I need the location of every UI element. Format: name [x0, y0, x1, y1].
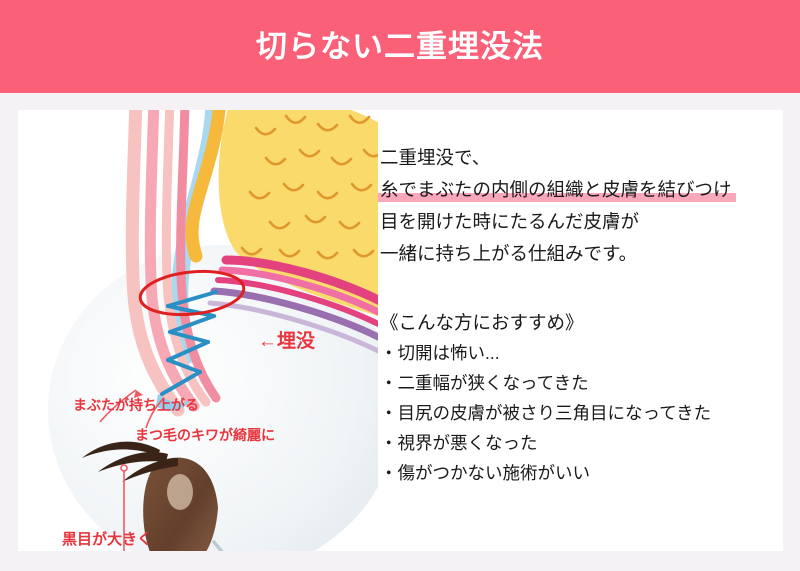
annotation-iris-larger: 黒目が大きく: [62, 532, 152, 547]
recommendation-item: ・二重幅が狭くなってきた: [380, 368, 780, 398]
page-header: 切らない二重埋没法: [0, 0, 800, 93]
annotation-maibotsu: ←埋没: [258, 332, 315, 351]
lede-line-1: 二重埋没で、: [380, 142, 490, 174]
recommendation-item: ・視界が悪くなった: [380, 428, 780, 458]
recommendation-item: ・目尻の皮膚が被さり三角目になってきた: [380, 398, 780, 428]
lede-line-2-highlighted: 糸でまぶたの内側の組織と皮膚を結びつけ: [380, 174, 732, 206]
content-card: ←埋没 まぶたが持ち上がる まつ毛のキワが綺麗に 黒目が大きく 二重埋没で、 糸…: [18, 110, 783, 551]
text-column: 二重埋没で、 糸でまぶたの内側の組織と皮膚を結びつけ 目を開けた時にたるんだ皮膚…: [380, 142, 780, 488]
lede-line-3: 目を開けた時にたるんだ皮膚が: [380, 206, 639, 238]
recommendation-item: ・切開は怖い...: [380, 338, 780, 368]
annotation-mabuta-lift: まぶたが持ち上がる: [73, 398, 199, 412]
lede-paragraph: 二重埋没で、 糸でまぶたの内側の組織と皮膚を結びつけ 目を開けた時にたるんだ皮膚…: [380, 142, 780, 270]
recommendation-title: 《こんな方におすすめ》: [380, 308, 780, 338]
eyelid-cross-section-illustration: ←埋没 まぶたが持ち上がる まつ毛のキワが綺麗に 黒目が大きく: [18, 110, 378, 551]
illustration-layers: [48, 110, 378, 551]
recommendation-block: 《こんな方におすすめ》 ・切開は怖い... ・二重幅が狭くなってきた ・目尻の皮…: [380, 308, 780, 488]
annotation-lash-line: まつ毛のキワが綺麗に: [135, 428, 275, 442]
lede-line-4: 一緒に持ち上がる仕組みです。: [380, 238, 637, 270]
iris-highlight: [167, 474, 193, 510]
page-root: 切らない二重埋没法: [0, 0, 800, 571]
recommendation-item: ・傷がつかない施術がいい: [380, 458, 780, 488]
page-title: 切らない二重埋没法: [256, 31, 544, 62]
